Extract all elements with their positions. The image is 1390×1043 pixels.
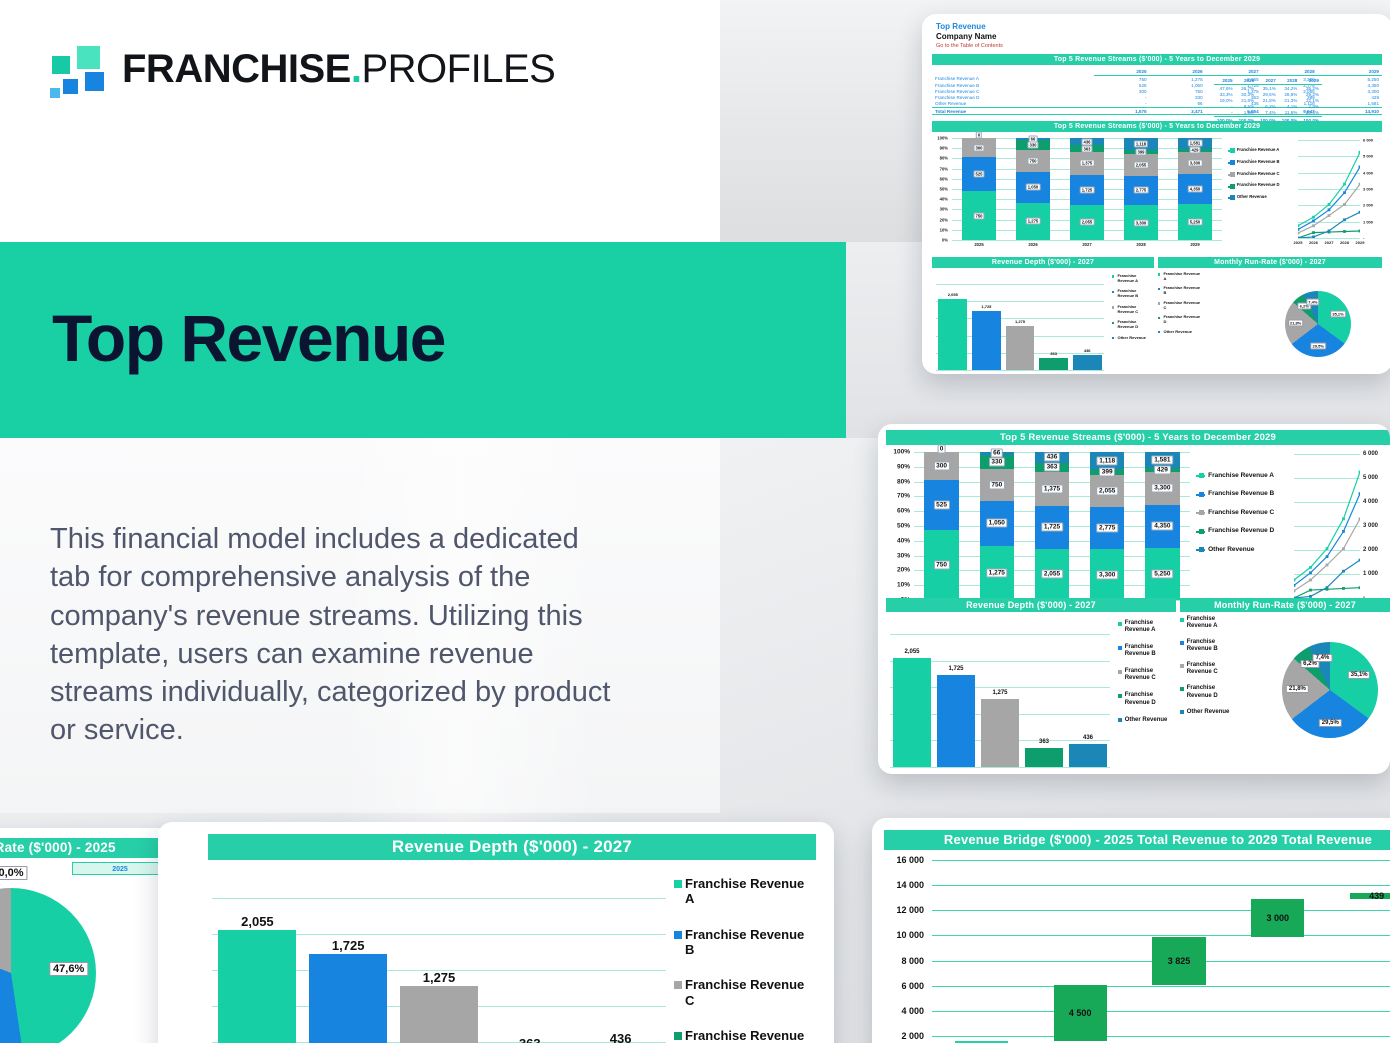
y-axis-tick: 2 000 <box>1363 203 1373 208</box>
y-axis-tick: 60% <box>886 508 910 515</box>
chart-legend: Franchise Revenue AFranchise Revenue BFr… <box>674 876 812 1043</box>
pie-data-label: 29,5% <box>1310 343 1326 350</box>
legend-marker <box>1228 186 1234 188</box>
data-label: 429 <box>1154 465 1170 474</box>
legend-dot <box>1199 529 1204 534</box>
data-label: 1,275 <box>992 690 1007 696</box>
legend-item: Franchise Revenue D <box>1228 183 1288 188</box>
worksheet-title: Top Revenue <box>936 22 1390 31</box>
y-axis-tick: 1 000 <box>1363 219 1373 224</box>
data-label: 525 <box>973 171 984 178</box>
chart-legend: Franchise Revenue AFranchise Revenue BFr… <box>1112 274 1150 346</box>
legend-label: Franchise Revenue C <box>685 977 812 1008</box>
data-label: 1,050 <box>1026 184 1041 191</box>
charts-screenshot-card: Top 5 Revenue Streams ($'000) - 5 Years … <box>878 424 1390 774</box>
legend-marker <box>1118 694 1122 698</box>
page-description: This financial model includes a dedicate… <box>50 520 620 750</box>
runrate-chart-title: Monthly Run-Rate ($'000) - 2027 <box>1180 598 1390 612</box>
legend-item: Franchise Revenue C <box>1118 668 1172 682</box>
runrate-pie-card: Monthly Run-Rate ($'000) - 2025 2025 47,… <box>0 828 172 1043</box>
x-axis-tick: 2029 <box>1168 242 1222 247</box>
logo-word-profiles: PROFILES <box>361 47 555 91</box>
legend-label: Franchise Revenue C <box>1187 662 1238 676</box>
legend-label: Other Revenue <box>1187 709 1230 716</box>
legend-label: Franchise Revenue C <box>1237 172 1280 177</box>
y-axis-tick: 8 000 <box>884 956 924 966</box>
legend-dot <box>1199 473 1204 478</box>
revenue-bridge-chart: 16 00014 00012 00010 0008 0006 0004 0002… <box>884 854 1390 1043</box>
data-label: 2,055 <box>1096 487 1118 496</box>
chart-legend: Franchise Revenue AFranchise Revenue BFr… <box>1118 620 1172 734</box>
legend-item: Franchise Revenue A <box>1158 272 1202 281</box>
legend-label: Franchise Revenue D <box>1237 183 1280 188</box>
legend-marker <box>674 931 682 939</box>
data-label: 2,775 <box>1134 187 1149 194</box>
col-2028: 2028 <box>1262 68 1318 76</box>
gridline <box>932 885 1390 886</box>
legend-label: Franchise Revenue D <box>1125 692 1172 706</box>
y-axis-tick: 5 000 <box>1363 154 1373 159</box>
data-label: 1,725 <box>981 304 991 309</box>
y-axis-tick: 1 000 <box>1363 571 1378 577</box>
depth-chart: 2,0551,7251,275363436Franchise Revenue A… <box>886 616 1176 771</box>
pie-data-label: 21,8% <box>1288 320 1304 327</box>
bar <box>938 299 967 370</box>
worksheet-table-banner: Top 5 Revenue Streams ($'000) - 5 Years … <box>932 54 1382 65</box>
gridline <box>936 284 1104 285</box>
gridline <box>1298 238 1360 239</box>
worksheet-header: Top Revenue Company Name Go to the Table… <box>922 14 1390 49</box>
data-label: 750 <box>934 560 950 569</box>
data-label: 363 <box>1044 463 1060 472</box>
line-chart-small: 6 0005 0004 0003 0002 0001 000-202520262… <box>1294 134 1390 254</box>
legend-label: Franchise Revenue B <box>1187 639 1238 653</box>
data-label: 2,055 <box>1041 570 1063 579</box>
data-label: 4 500 <box>1069 1008 1092 1018</box>
legend-dot <box>1199 510 1204 515</box>
legend-item: Franchise Revenue B <box>1228 160 1288 165</box>
data-label: 5,250 <box>1188 219 1203 226</box>
pie-chart-small: 35,1%29,5%21,8%6,2%7,4%Franchise Revenue… <box>1158 272 1382 374</box>
legend-label: Franchise Revenue B <box>1237 160 1280 165</box>
revenue-depth-chart: 2,0551,7251,275363436Franchise Revenue A… <box>208 866 816 1043</box>
data-label: 1,581 <box>1152 455 1174 464</box>
legend-marker <box>1112 306 1114 308</box>
data-label: 399 <box>1099 468 1115 477</box>
gridline <box>932 1011 1390 1012</box>
data-label: 300 <box>934 462 950 471</box>
legend-item: Franchise Revenue B <box>674 927 812 958</box>
legend-marker <box>1112 291 1114 293</box>
data-label: 0 <box>976 132 982 139</box>
pie-data-label: 35,1% <box>1348 671 1370 679</box>
stacked-chart-small: 100%90%80%70%60%50%40%30%20%10%0%7505253… <box>932 134 1292 254</box>
legend-marker <box>1180 664 1184 668</box>
legend-item: Franchise Revenue D <box>1118 692 1172 706</box>
x-axis-tick: 2029 <box>1356 240 1365 245</box>
data-label: 1,275 <box>1026 218 1041 225</box>
data-label: 2,055 <box>948 292 958 297</box>
legend-item: Other Revenue <box>1118 717 1172 724</box>
legend-item: Other Revenue <box>1158 330 1202 335</box>
legend-label: Franchise Revenue C <box>1117 305 1150 314</box>
x-axis-tick: 2027 <box>1060 242 1114 247</box>
x-axis-tick: 2025 <box>1294 240 1303 245</box>
chart-legend: Franchise Revenue AFranchise Revenue BFr… <box>1158 272 1202 339</box>
data-label: 1,581 <box>1188 140 1203 147</box>
legend-label: Franchise Revenue C <box>1163 301 1202 310</box>
data-label: 2,055 <box>904 649 919 655</box>
data-label: 429 <box>1189 147 1200 154</box>
bar <box>1025 748 1063 767</box>
x-axis-tick: 2027 <box>1325 240 1334 245</box>
legend-label: Franchise Revenue A <box>1163 272 1202 281</box>
data-label: 1,725 <box>1080 187 1095 194</box>
legend-marker <box>1118 670 1122 674</box>
depth-chart-small: 2,0551,7251,275363436Franchise Revenue A… <box>932 272 1154 374</box>
legend-item: Other Revenue <box>1180 709 1238 716</box>
legend-label: Franchise Revenue A <box>1125 620 1172 634</box>
col-2029: 2029 <box>1318 68 1382 76</box>
data-label: 399 <box>1135 148 1146 155</box>
chart-legend: Franchise Revenue AFranchise Revenue BFr… <box>1180 616 1238 725</box>
legend-label: Franchise Revenue B <box>1208 490 1274 497</box>
legend-marker <box>1196 549 1205 551</box>
legend-marker <box>1158 317 1160 319</box>
legend-item: Franchise Revenue A <box>1228 148 1288 153</box>
data-label: 436 <box>1084 348 1091 353</box>
legend-marker <box>674 981 682 989</box>
y-axis-tick: 40% <box>932 197 948 202</box>
data-label: 363 <box>1081 145 1092 152</box>
legend-dot <box>1230 184 1235 189</box>
legend-marker <box>1112 337 1114 339</box>
col-2027: 2027 <box>1206 68 1262 76</box>
bar <box>893 658 931 767</box>
legend-label: Franchise Revenue B <box>1125 644 1172 658</box>
worksheet-company: Company Name <box>936 32 1390 41</box>
page-title: Top Revenue <box>52 305 445 371</box>
data-label: 525 <box>934 500 950 509</box>
data-label: 4,350 <box>1188 186 1203 193</box>
gridline <box>890 634 1110 635</box>
data-label: 436 <box>1083 735 1093 741</box>
pie-data-label: 35,1% <box>1330 310 1346 317</box>
legend-item: Franchise Revenue B <box>1196 490 1282 497</box>
data-label: 2,775 <box>1096 524 1118 533</box>
y-axis-tick: 0% <box>932 238 948 243</box>
y-axis-tick: 3 000 <box>1363 187 1373 192</box>
data-label: 66 <box>991 449 1003 458</box>
y-axis-tick: 40% <box>886 537 910 544</box>
x-axis-tick: 2026 <box>1309 240 1318 245</box>
table-header-row: 2025 2026 2027 2028 2029 <box>932 68 1382 76</box>
bar <box>1039 358 1068 370</box>
bar <box>400 986 478 1043</box>
legend-label: Franchise Revenue A <box>685 876 812 907</box>
legend-marker <box>1118 646 1122 650</box>
y-axis-tick: 50% <box>886 523 910 530</box>
worksheet-screenshot-card: Top Revenue Company Name Go to the Table… <box>922 14 1390 374</box>
legend-label: Franchise Revenue A <box>1117 274 1150 283</box>
y-axis-tick: 4 000 <box>884 1006 924 1016</box>
data-label: 1,375 <box>1080 160 1095 167</box>
table-of-contents-link[interactable]: Go to the Table of Contents <box>936 43 1390 49</box>
gridline <box>890 767 1110 768</box>
legend-item: Franchise Revenue A <box>1118 620 1172 634</box>
legend-item: Franchise Revenue A <box>1112 274 1150 283</box>
y-axis-tick: 70% <box>886 493 910 500</box>
y-axis-tick: 4 000 <box>1363 170 1373 175</box>
runrate-chart-title-small: Monthly Run-Rate ($'000) - 2027 <box>1158 257 1382 268</box>
pie-data-label: 0,0% <box>0 866 28 880</box>
revenue-bridge-title: Revenue Bridge ($'000) - 2025 Total Reve… <box>884 830 1390 850</box>
y-axis-tick: 16 000 <box>884 855 924 865</box>
y-axis-tick: 90% <box>886 463 910 470</box>
gridline <box>932 986 1390 987</box>
gridline <box>952 240 1222 241</box>
data-label: 1,275 <box>986 568 1008 577</box>
legend-item: Franchise Revenue D <box>1112 320 1150 329</box>
legend-marker <box>1180 618 1184 622</box>
data-label: 2,055 <box>1080 219 1095 226</box>
data-label: 363 <box>1039 739 1049 745</box>
legend-label: Franchise Revenue D <box>685 1028 812 1043</box>
legend-item: Franchise Revenue C <box>1158 301 1202 310</box>
legend-label: Franchise Revenue C <box>1208 509 1274 516</box>
legend-dot <box>1230 160 1235 165</box>
chart-legend: Franchise Revenue AFranchise Revenue BFr… <box>1196 472 1282 564</box>
y-axis-tick: 2 000 <box>1363 547 1378 553</box>
y-axis-tick: 30% <box>886 552 910 559</box>
line-series-svg <box>1294 454 1360 598</box>
legend-dot <box>1230 148 1235 153</box>
y-axis-tick: 70% <box>932 166 948 171</box>
legend-label: Other Revenue <box>1163 330 1191 335</box>
data-label: 3,300 <box>1188 160 1203 167</box>
legend-label: Other Revenue <box>1208 546 1254 553</box>
data-label: 1,118 <box>1134 140 1148 147</box>
pie-data-label: 21,8% <box>1286 685 1308 693</box>
legend-marker <box>1158 273 1160 275</box>
data-label: 1,375 <box>1041 484 1063 493</box>
y-axis-tick: 6 000 <box>1363 138 1373 143</box>
gridline <box>936 370 1104 371</box>
data-label: 1,118 <box>1097 456 1118 465</box>
legend-item: Other Revenue <box>1228 195 1288 200</box>
legend-dot <box>1199 492 1204 497</box>
data-label: 750 <box>989 480 1005 489</box>
x-axis-tick: 2026 <box>1006 242 1060 247</box>
col-2025: 2025 <box>1094 68 1150 76</box>
legend-item: Franchise Revenue B <box>1158 286 1202 295</box>
legend-item: Other Revenue <box>1112 336 1150 341</box>
gridline <box>932 910 1390 911</box>
logo-squares-icon <box>48 44 108 94</box>
legend-marker <box>1158 331 1160 333</box>
depth-chart-title-small: Revenue Depth ($'000) - 2027 <box>932 257 1154 268</box>
y-axis-tick: 20% <box>932 217 948 222</box>
logo-word-franchise: FRANCHISE <box>122 47 351 91</box>
legend-marker <box>1112 275 1114 277</box>
y-axis-tick: 10 000 <box>884 930 924 940</box>
legend-item: Franchise Revenue D <box>1158 315 1202 324</box>
revenue-depth-title: Revenue Depth ($'000) - 2027 <box>208 834 816 860</box>
data-label: 1,725 <box>1041 523 1063 532</box>
legend-label: Other Revenue <box>1125 717 1168 724</box>
bar <box>981 699 1019 767</box>
legend-item: Franchise Revenue C <box>674 977 812 1008</box>
y-axis-tick: 5 000 <box>1363 475 1378 481</box>
y-axis-tick: 6 000 <box>1363 451 1378 457</box>
legend-item: Franchise Revenue D <box>1196 527 1282 534</box>
legend-marker <box>1118 622 1122 626</box>
legend-item: Other Revenue <box>1196 546 1282 553</box>
pie-data-label: 7,4% <box>1313 654 1332 662</box>
legend-marker <box>1180 641 1184 645</box>
bar <box>1069 744 1107 767</box>
table-row: 19,0%21,6%21,8%21,3%22,1% <box>1214 97 1322 103</box>
legend-label: Other Revenue <box>1117 336 1145 341</box>
y-axis-tick: 60% <box>932 176 948 181</box>
data-label: 363 <box>1050 351 1057 356</box>
col-2026: 2026 <box>1150 68 1206 76</box>
data-label: 1,725 <box>948 666 963 672</box>
legend-marker <box>1158 288 1160 290</box>
gridline <box>212 898 666 899</box>
bar <box>972 311 1001 370</box>
y-axis-tick: 30% <box>932 207 948 212</box>
pie-data-label: 29,5% <box>1319 719 1341 727</box>
legend-marker <box>1196 494 1205 496</box>
legend-item: Franchise Revenue D <box>674 1028 812 1043</box>
bar <box>937 675 975 767</box>
y-axis-tick: 12 000 <box>884 905 924 915</box>
legend-marker <box>1196 512 1205 514</box>
legend-label: Franchise Revenue A <box>1187 616 1238 630</box>
legend-dot <box>1199 547 1204 552</box>
data-label: 3,300 <box>1096 570 1118 579</box>
legend-label: Franchise Revenue D <box>1187 685 1238 699</box>
data-label: 750 <box>1027 157 1038 164</box>
y-axis-tick: 100% <box>886 449 910 456</box>
data-label: 0 <box>937 445 946 454</box>
data-label: 66 <box>1029 135 1038 142</box>
legend-marker <box>1158 302 1160 304</box>
x-axis-tick: 2028 <box>1114 242 1168 247</box>
legend-item: Franchise Revenue C <box>1180 662 1238 676</box>
legend-marker <box>1112 322 1114 324</box>
background-panel-top-left <box>0 0 720 242</box>
legend-marker <box>1228 197 1234 199</box>
data-label: 1,275 <box>423 970 456 985</box>
data-label: 3 825 <box>1168 956 1191 966</box>
data-label: 1,275 <box>1015 319 1025 324</box>
legend-marker <box>1228 162 1234 164</box>
y-axis-tick: 80% <box>932 156 948 161</box>
chart-legend: Franchise Revenue AFranchise Revenue BFr… <box>1228 148 1288 207</box>
logo-wordmark: FRANCHISE.PROFILES <box>122 49 555 89</box>
data-label: 4,350 <box>1152 522 1174 531</box>
bar <box>1006 326 1035 370</box>
legend-label: Franchise Revenue B <box>1163 286 1202 295</box>
data-label: 3,300 <box>1134 219 1149 226</box>
line-series-svg <box>1298 140 1360 238</box>
stacked-chart-title: Top 5 Revenue Streams ($'000) - 5 Years … <box>886 430 1390 445</box>
legend-label: Franchise Revenue A <box>1208 472 1274 479</box>
data-label: 436 <box>610 1031 632 1043</box>
legend-item: Franchise Revenue B <box>1118 644 1172 658</box>
data-label: 2,055 <box>1134 161 1149 168</box>
table-row: 47,6%36,7%35,1%34,2%35,2% <box>1214 85 1322 92</box>
x-axis-tick: 2025 <box>952 242 1006 247</box>
y-axis-tick: 50% <box>932 187 948 192</box>
pie-2025-chart: 47,6%33,3%19,0%0,0%0,0% <box>0 878 168 1043</box>
y-axis-tick: 3 000 <box>1363 523 1378 529</box>
legend-marker <box>1196 475 1205 477</box>
logo-dot: . <box>351 47 362 91</box>
legend-item: Franchise Revenue C <box>1228 172 1288 177</box>
legend-dot <box>1230 172 1235 177</box>
y-axis-tick: 4 000 <box>1363 499 1378 505</box>
legend-marker <box>1180 710 1184 714</box>
stacked-chart: 100%90%80%70%60%50%40%30%20%10%0%7505253… <box>886 448 1286 614</box>
y-axis-tick: 2 000 <box>884 1031 924 1041</box>
pie-chart: 35,1%29,5%21,8%6,2%7,4%Franchise Revenue… <box>1180 616 1390 771</box>
legend-item: Franchise Revenue D <box>1180 685 1238 699</box>
pie-data-label: 47,6% <box>49 962 88 976</box>
legend-marker <box>674 1032 682 1040</box>
legend-label: Franchise Revenue A <box>1237 148 1279 153</box>
legend-label: Franchise Revenue B <box>685 927 812 958</box>
bar <box>309 954 387 1043</box>
legend-marker <box>1228 174 1234 176</box>
legend-label: Other Revenue <box>1237 195 1267 200</box>
data-label: 1,050 <box>986 519 1008 528</box>
bar <box>218 930 296 1043</box>
data-label: 1,725 <box>332 938 365 953</box>
runrate-2025-title: Monthly Run-Rate ($'000) - 2025 <box>0 838 160 858</box>
revenue-mix-percent-table: 2025 2026 2027 2028 2029 47,6%36,7%35,1%… <box>1214 77 1322 124</box>
data-label: 750 <box>973 212 984 219</box>
y-axis-tick: 10% <box>932 227 948 232</box>
brand-logo: FRANCHISE.PROFILES <box>48 44 555 94</box>
revenue-bridge-card: Revenue Bridge ($'000) - 2025 Total Reve… <box>872 818 1390 1043</box>
y-axis-tick: 90% <box>932 146 948 151</box>
legend-marker <box>1196 531 1205 533</box>
depth-chart-title: Revenue Depth ($'000) - 2027 <box>886 598 1176 612</box>
legend-item: Franchise Revenue A <box>1180 616 1238 630</box>
data-label: 3,300 <box>1152 484 1174 493</box>
data-label: 5,250 <box>1152 569 1174 578</box>
data-label: 300 <box>973 144 984 151</box>
line-chart: 6 0005 0004 0003 0002 0001 000-202520262… <box>1290 448 1390 614</box>
y-axis-tick: 100% <box>932 136 948 141</box>
legend-marker <box>1118 718 1122 722</box>
table-row: 33,3%30,3%29,5%28,8%29,2% <box>1214 91 1322 97</box>
legend-dot <box>1230 195 1235 200</box>
y-axis-tick: 10% <box>886 582 910 589</box>
legend-label: Franchise Revenue B <box>1117 289 1150 298</box>
legend-item: Franchise Revenue C <box>1112 305 1150 314</box>
data-label: 436 <box>1044 453 1060 462</box>
data-label: 436 <box>1081 138 1092 145</box>
y-axis-tick: 80% <box>886 478 910 485</box>
gridline <box>932 860 1390 861</box>
legend-marker <box>674 880 682 888</box>
data-label: 3 000 <box>1267 913 1290 923</box>
legend-label: Franchise Revenue D <box>1163 315 1202 324</box>
